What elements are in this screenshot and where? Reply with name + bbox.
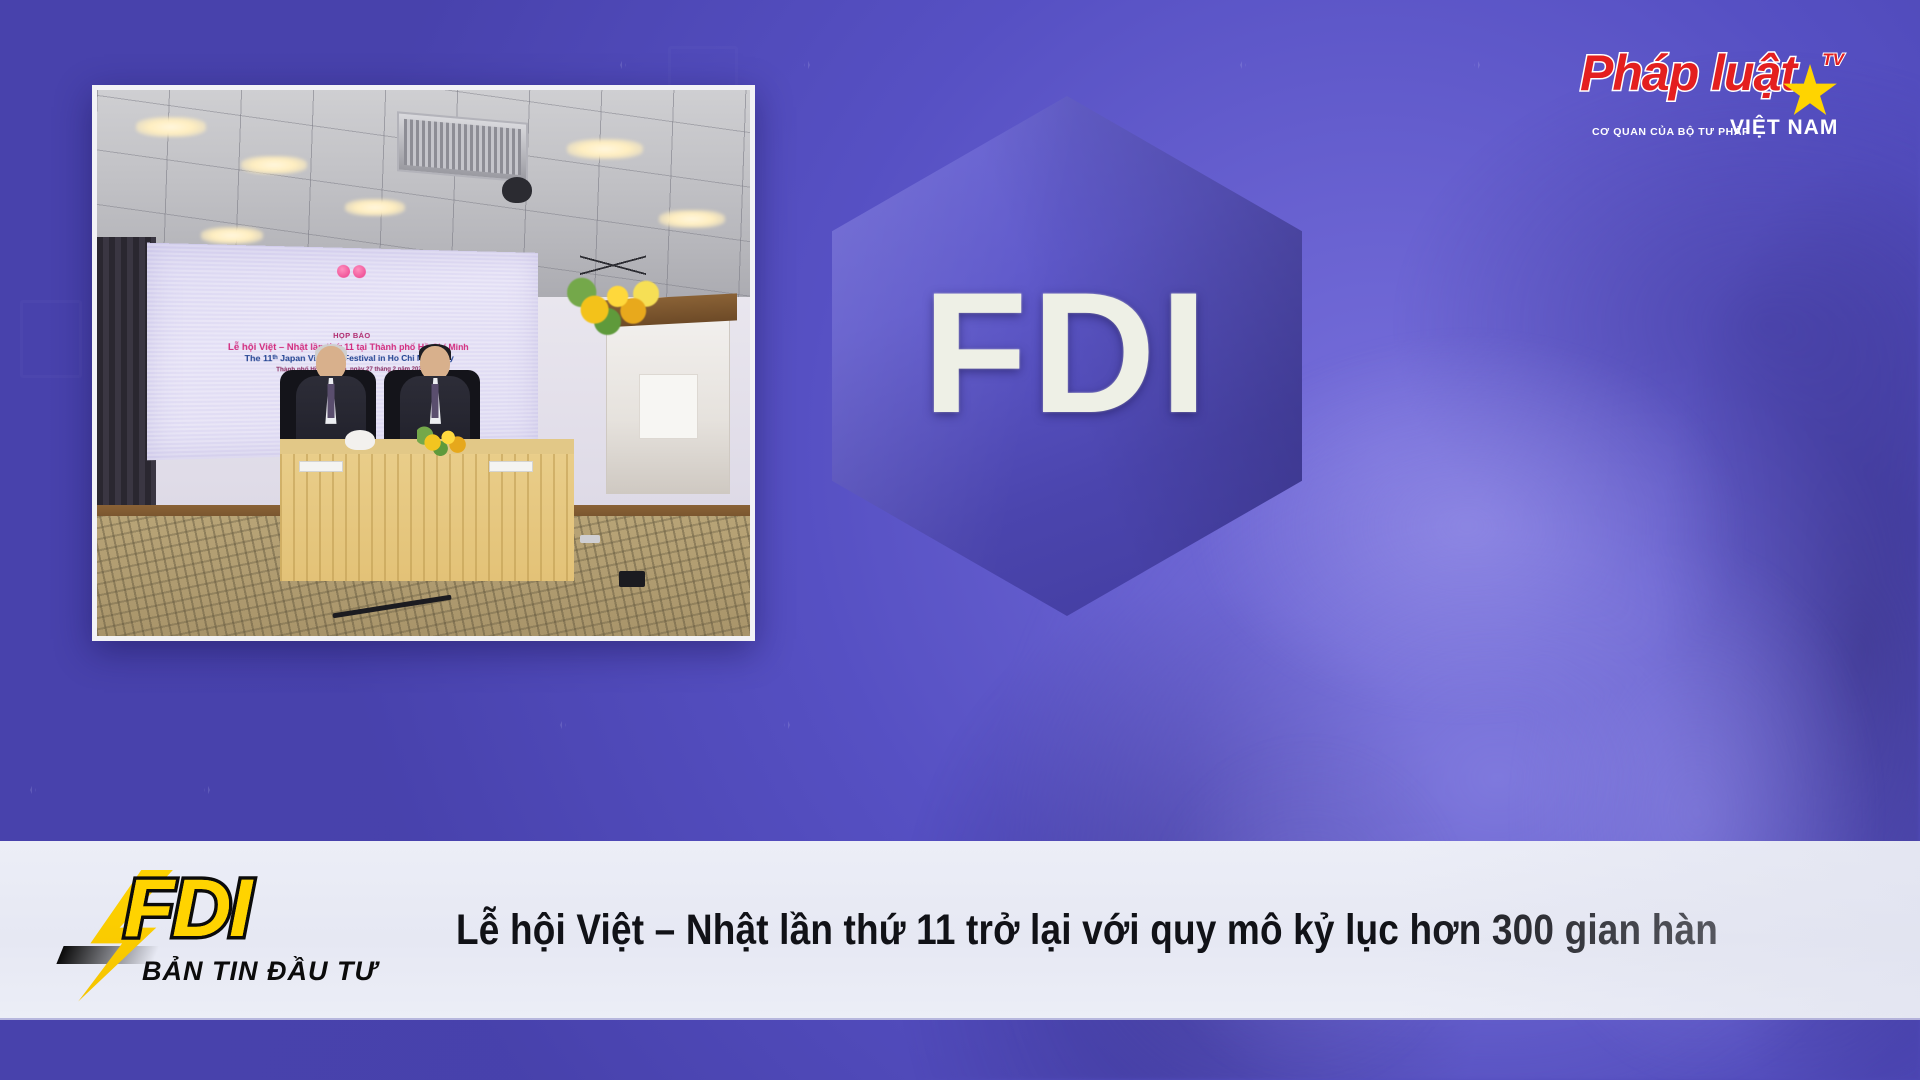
photo-nameplate [299,461,343,472]
lower-third-bar: FDI FDI BẢN TIN ĐẦU TƯ Lễ hội Việt – Nhậ… [0,841,1920,1020]
document-watermark-icon [20,300,82,378]
person-head [420,346,450,380]
lower-third-bottom-rule [0,1018,1920,1020]
photo-teapot [345,430,375,450]
ceiling-light-icon [345,199,405,216]
person-tie [432,384,439,418]
slide-festival-logo [306,264,396,279]
photo-microphones [580,243,645,287]
news-photo-card: HỌP BÁO Lễ hội Việt – Nhật lần thứ 11 tạ… [92,85,755,641]
program-logo-title: FDI [124,862,250,956]
sakura-blossom-icon [306,264,396,279]
channel-logo-tv-badge: TV [1822,50,1844,70]
photo-nameplate [489,461,533,472]
press-conference-photo: HỌP BÁO Lễ hội Việt – Nhật lần thứ 11 tạ… [97,90,750,636]
blossom-petal-icon [353,265,366,278]
program-logo[interactable]: FDI FDI BẢN TIN ĐẦU TƯ [58,856,388,1006]
channel-logo[interactable]: Pháp luật TV CƠ QUAN CỦA BỘ TƯ PHÁP VIỆT… [1580,48,1848,140]
ceiling-light-icon [241,156,307,174]
broadcast-stage: FDI [0,0,1920,1080]
channel-logo-subtitle: CƠ QUAN CỦA BỘ TƯ PHÁP [1592,126,1750,138]
program-logo-tagline: BẢN TIN ĐẦU TƯ [142,956,377,987]
ceiling-light-icon [201,227,263,244]
air-conditioner-vent [397,112,528,183]
blossom-petal-icon [337,265,350,278]
fdi-hexagon-label: FDI [832,96,1302,616]
photo-cable [619,571,645,587]
photo-table-flowers [417,426,469,456]
security-camera-icon [502,177,532,203]
news-headline: Lễ hội Việt – Nhật lần thứ 11 trở lại vớ… [456,906,1718,955]
ceiling-light-icon [659,210,725,228]
person-head [316,346,346,380]
ceiling-light-icon [567,139,643,159]
person-tie [327,384,334,418]
slide-header: HỌP BÁO [153,330,532,341]
channel-logo-country: VIỆT NAM [1730,116,1838,140]
ceiling-light-icon [136,117,206,137]
photo-cable [580,535,600,543]
photo-podium-sign [639,374,698,440]
fdi-hexagon-graphic: FDI [832,96,1302,616]
